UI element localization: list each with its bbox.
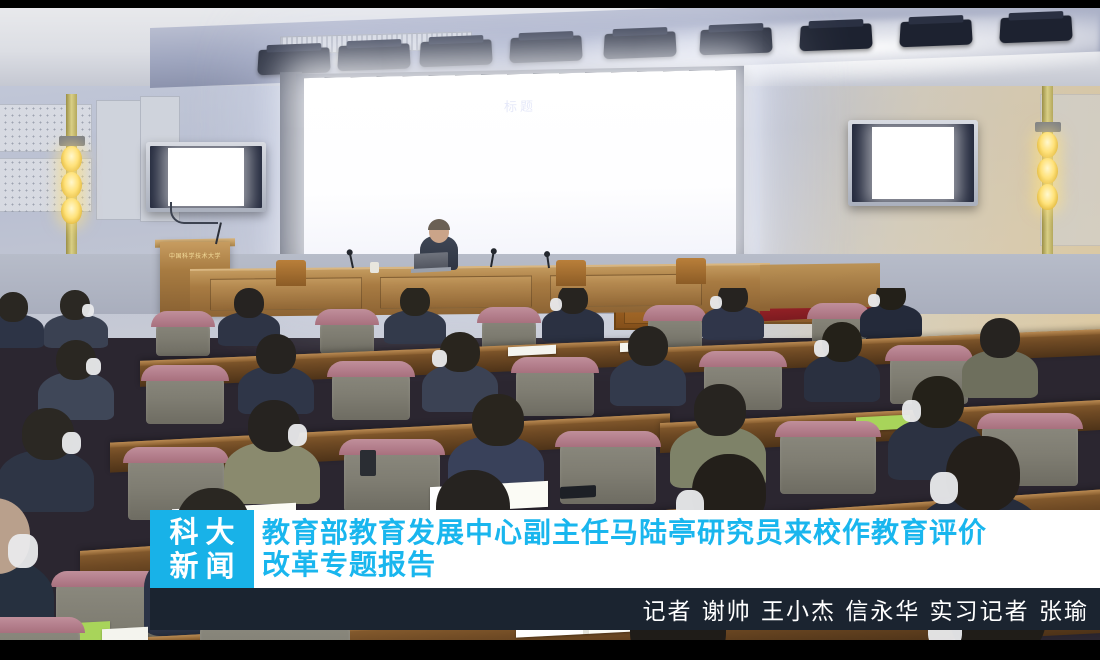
projection-screen-caption: 标题 (304, 92, 736, 119)
person-head (628, 326, 668, 366)
face-mask-icon (550, 298, 562, 311)
projection-screen: 标题 (304, 70, 736, 268)
headline-line-2: 改革专题报告 (262, 549, 1100, 581)
lamp-icon (61, 146, 82, 172)
monitor-display (168, 148, 244, 205)
seat (780, 424, 876, 494)
document-paper (102, 627, 148, 640)
face-mask-icon (8, 534, 38, 568)
face-mask-icon (902, 400, 921, 422)
cup-icon (370, 262, 379, 273)
credits-bar: 记者 谢帅 王小杰 信永华 实习记者 张瑜 (150, 588, 1100, 630)
person-head (822, 322, 862, 362)
seat (344, 442, 440, 512)
monitor-screen (852, 124, 974, 202)
spotlight-icon (419, 39, 493, 67)
letterbox-top (0, 0, 1100, 8)
person-head (876, 288, 906, 310)
face-mask-icon (930, 472, 958, 504)
face-mask-icon (710, 296, 722, 309)
seat (146, 368, 224, 424)
spotlight-icon (999, 15, 1073, 43)
spotlight-icon (699, 27, 773, 55)
seat (332, 364, 410, 420)
monitor-icon (848, 120, 978, 206)
podium-nameplate: 中国科学技术大学 (163, 251, 227, 260)
face-mask-icon (814, 340, 829, 357)
lamp-icon (1037, 184, 1058, 210)
stage-chair (676, 258, 706, 284)
seat (0, 620, 80, 640)
lamp-icon (1037, 158, 1058, 184)
stage-chair (276, 260, 306, 286)
face-mask-icon (62, 432, 81, 454)
news-logo-line-1: 科大 (162, 515, 241, 549)
lamp-icon (61, 172, 82, 198)
monitor-cable (170, 202, 218, 224)
person-head (912, 376, 964, 428)
spotlight-icon (899, 19, 973, 47)
credits-text: 记者 谢帅 王小杰 信永华 实习记者 张瑜 (642, 592, 1089, 626)
person-head (558, 288, 588, 314)
person-head (234, 288, 264, 318)
person-head (718, 288, 748, 312)
lamp-cap (1035, 122, 1061, 132)
lamp-icon (61, 198, 82, 224)
person-head (980, 318, 1020, 358)
spotlight-icon (799, 23, 873, 51)
face-mask-icon (82, 304, 94, 317)
news-logo-line-2: 新闻 (162, 549, 241, 583)
spotlight-icon (509, 35, 583, 63)
face-mask-icon (432, 350, 447, 367)
stage-chair (556, 260, 586, 286)
news-logo-block: 科大 新闻 (150, 510, 254, 588)
person-head (472, 394, 524, 446)
wall-panel (96, 100, 142, 220)
face-mask-icon (288, 424, 307, 446)
person-head (400, 288, 430, 316)
face-mask-icon (86, 358, 101, 375)
broadcast-scene: 标题 中国科学技术大学 (0, 8, 1100, 640)
spotlight-icon (337, 43, 411, 71)
seat (320, 312, 374, 354)
cup-icon (360, 450, 376, 476)
lamp-icon (1037, 132, 1058, 158)
seat (516, 360, 594, 416)
spotlight-icon (603, 31, 677, 59)
letterbox-bottom (0, 640, 1100, 660)
headline-line-1: 教育部教育发展中心副主任马陆亭研究员来校作教育评价 (262, 517, 1100, 549)
person-head (0, 292, 28, 322)
laptop-icon (414, 252, 448, 270)
person-head (440, 332, 480, 372)
monitor-display (872, 127, 955, 199)
monitor-screen (150, 146, 262, 208)
person-head (946, 436, 1020, 512)
face-mask-icon (868, 294, 880, 307)
headline-box: 教育部教育发展中心副主任马陆亭研究员来校作教育评价 改革专题报告 (254, 510, 1100, 588)
lamp-cap (59, 136, 85, 146)
video-frame: 标题 中国科学技术大学 (0, 0, 1100, 660)
person-head (256, 334, 296, 374)
seat (156, 314, 210, 356)
person-head (694, 384, 746, 436)
phone-icon (560, 485, 596, 499)
